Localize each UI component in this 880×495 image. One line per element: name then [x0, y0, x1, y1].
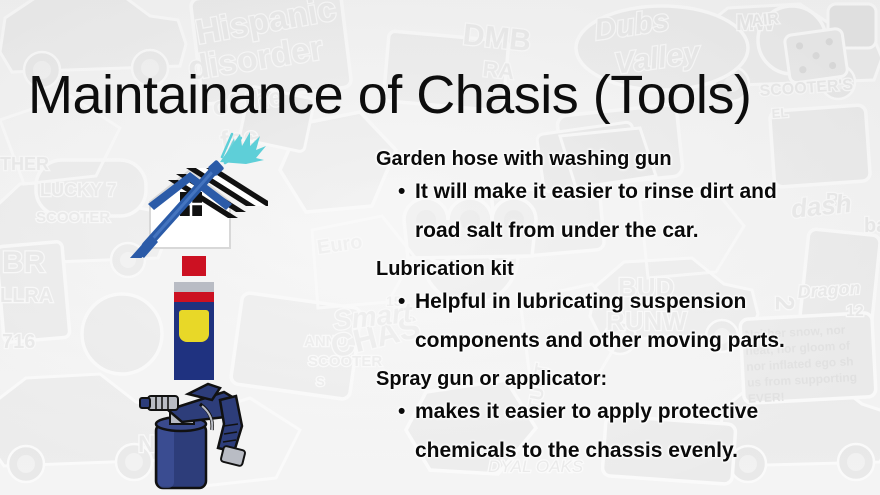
bullet-text: road salt from under the car.: [415, 219, 699, 242]
pressure-washer-wand-icon: [128, 128, 268, 263]
bullet-text: makes it easier to apply protective: [415, 400, 758, 423]
bullet-icon: •: [398, 175, 405, 208]
bullet-text: It will make it easier to rinse dirt and: [415, 180, 777, 203]
group-heading: Lubrication kit: [376, 256, 846, 283]
content-group: Spray gun or applicator: • makes it easi…: [376, 366, 846, 467]
paint-spray-gun-icon: [138, 382, 264, 495]
lubricant-spray-can-icon: [150, 252, 240, 389]
bullet-text: Helpful in lubricating suspension: [415, 290, 746, 313]
bullet-item-continuation: components and other moving parts.: [376, 324, 846, 357]
content-group: Lubrication kit • Helpful in lubricating…: [376, 256, 846, 357]
bullet-item: • makes it easier to apply protective: [376, 395, 846, 428]
group-heading: Garden hose with washing gun: [376, 146, 846, 173]
page-title: Maintainance of Chasis (Tools): [28, 68, 751, 122]
bullet-item-continuation: chemicals to the chassis evenly.: [376, 434, 846, 467]
content-group: Garden hose with washing gun • It will m…: [376, 146, 846, 247]
content-body: Garden hose with washing gun • It will m…: [376, 146, 846, 473]
bullet-icon: •: [398, 285, 405, 318]
slide: Hispanic disorder of the fac DMB RA Dubs…: [0, 0, 880, 495]
bullet-text: components and other moving parts.: [415, 329, 785, 352]
bullet-icon: •: [398, 395, 405, 428]
bullet-text: chemicals to the chassis evenly.: [415, 439, 738, 462]
bullet-item: • It will make it easier to rinse dirt a…: [376, 175, 846, 208]
bullet-item-continuation: road salt from under the car.: [376, 214, 846, 247]
bullet-item: • Helpful in lubricating suspension: [376, 285, 846, 318]
group-heading: Spray gun or applicator:: [376, 366, 846, 393]
